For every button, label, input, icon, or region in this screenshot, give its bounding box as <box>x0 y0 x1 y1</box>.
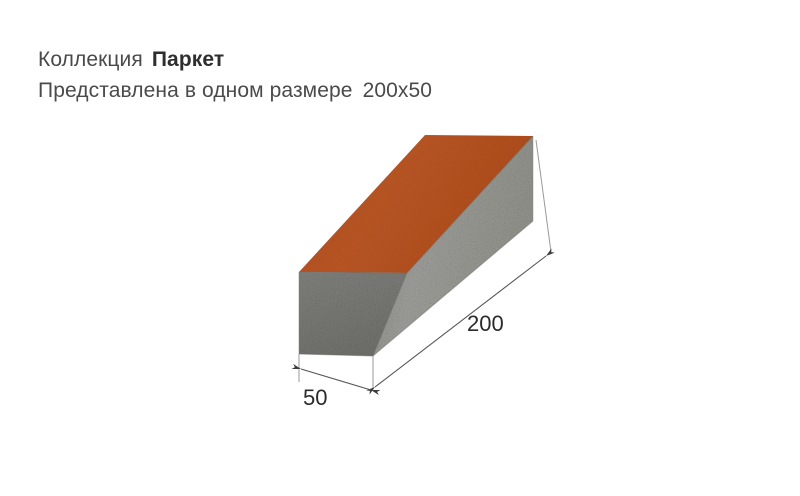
paving-block-illustration <box>0 0 800 496</box>
product-size-diagram-page: КоллекцияПаркет Представлена в одном раз… <box>0 0 800 496</box>
dimension-label-length: 200 <box>467 311 504 337</box>
dimension-label-width: 50 <box>303 385 327 411</box>
extension-line-right <box>536 140 551 252</box>
